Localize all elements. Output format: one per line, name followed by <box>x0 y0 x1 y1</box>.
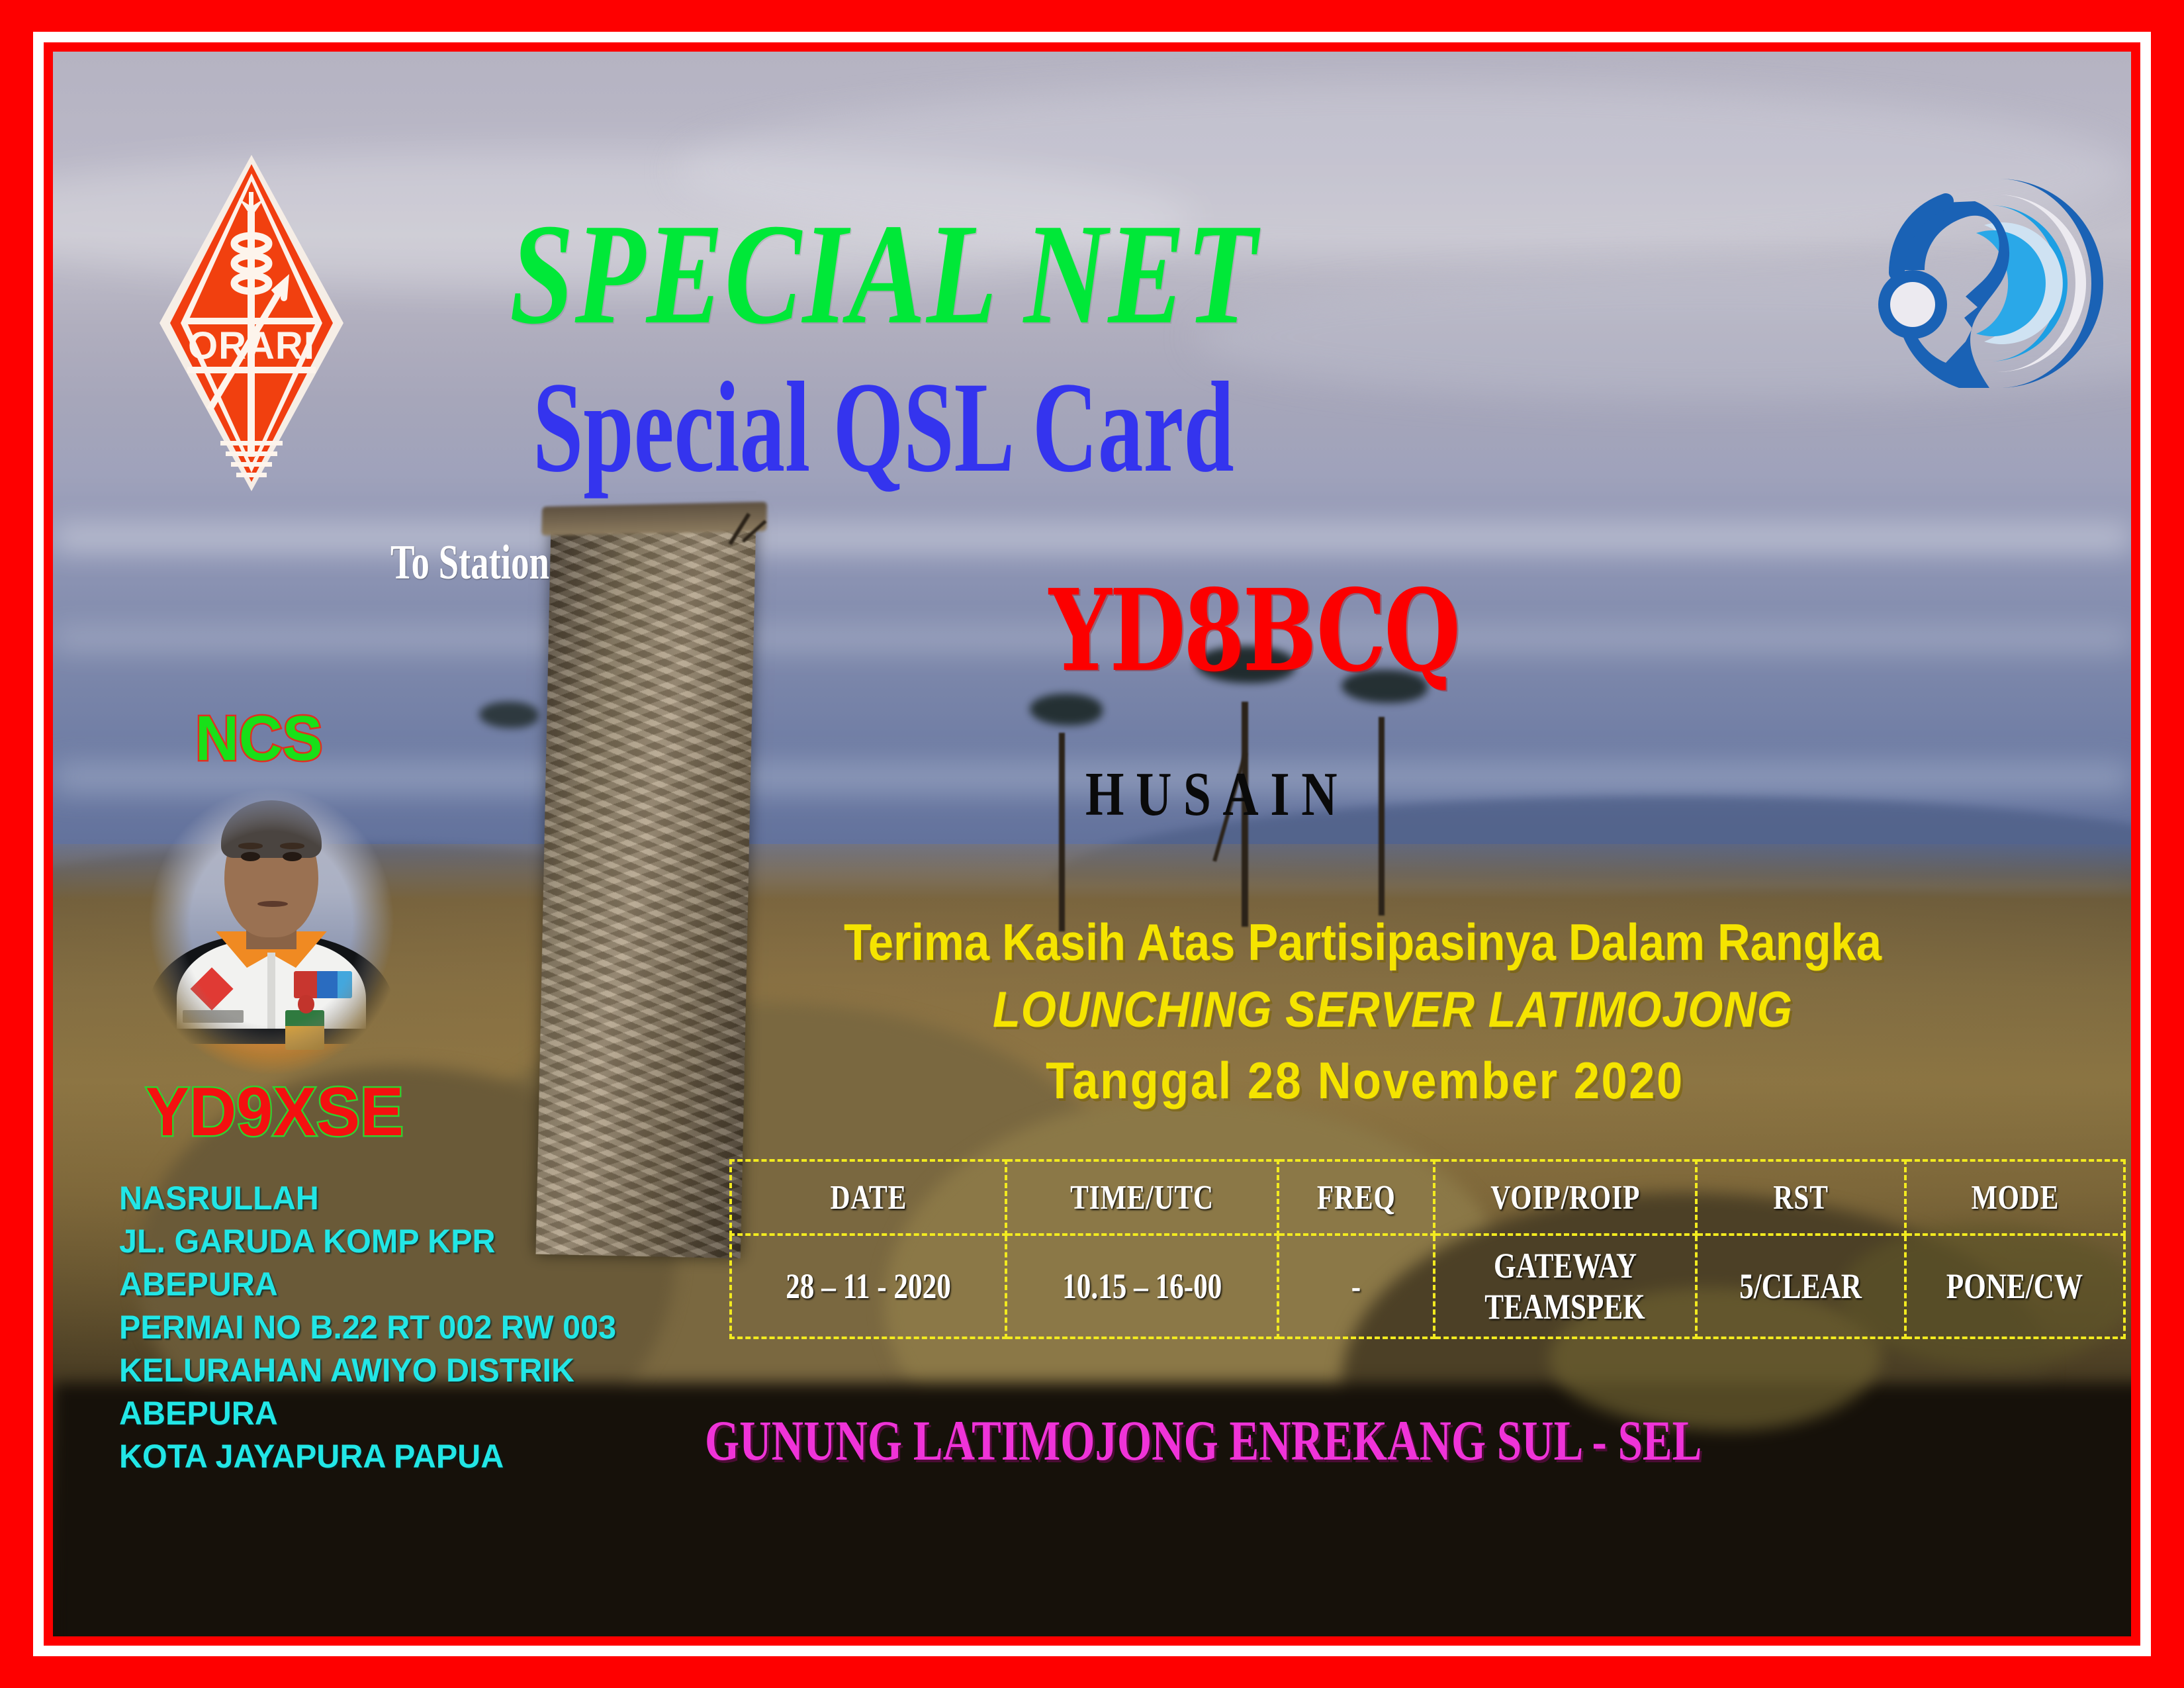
address-line: KELURAHAN AWIYO DISTRIK <box>119 1349 671 1392</box>
footer-address: Address : amatir.latimojong.com <box>1330 1630 1953 1636</box>
tree-canopy <box>1030 694 1103 726</box>
th-voip-roip: VOIP/ROIP <box>1434 1160 1696 1235</box>
address-line: JL. GARUDA KOMP KPR <box>119 1220 671 1263</box>
operator-name: HUSAIN <box>1085 763 1349 825</box>
th-freq: FREQ <box>1278 1160 1434 1235</box>
td-rst: 5/CLEAR <box>1696 1235 1905 1338</box>
sender-address-block: NASRULLAH JL. GARUDA KOMP KPR ABEPURA PE… <box>119 1177 688 1478</box>
th-mode: MODE <box>1905 1160 2124 1235</box>
ncs-callsign: YD9XSE <box>146 1078 404 1147</box>
qsl-card: ORARI <box>0 0 2184 1688</box>
address-line: PERMAI NO B.22 RT 002 RW 003 <box>119 1306 671 1349</box>
callsign-embroidery <box>183 1010 244 1022</box>
th-date: DATE <box>731 1160 1006 1235</box>
ncs-label: NCS <box>195 707 323 771</box>
eyebrow-left <box>238 843 263 849</box>
page-title: SPECIAL NET <box>510 203 1257 347</box>
shirt-logo-patch <box>294 971 352 998</box>
table-header-row: DATE TIME/UTC FREQ VOIP/ROIP RST MODE <box>731 1160 2124 1235</box>
td-freq: - <box>1278 1235 1434 1338</box>
event-date-line: Tanggal 28 November 2020 <box>1046 1055 1684 1106</box>
qso-log-table: DATE TIME/UTC FREQ VOIP/ROIP RST MODE 28… <box>729 1159 2126 1339</box>
eye-right <box>283 852 302 861</box>
table-row: 28 – 11 - 2020 10.15 – 16-00 - GATEWAY T… <box>731 1235 2124 1338</box>
td-mode: PONE/CW <box>1905 1235 2124 1338</box>
address-line: ABEPURA <box>119 1263 671 1306</box>
page-subtitle: Special QSL Card <box>533 363 1234 492</box>
eyebrow-right <box>280 843 305 849</box>
to-station-label: To Station <box>390 538 549 587</box>
shirt-placket <box>267 953 276 1038</box>
svg-text:ORARI: ORARI <box>188 324 315 367</box>
th-rst: RST <box>1696 1160 1905 1235</box>
thanks-line: Terima Kasih Atas Partisipasinya Dalam R… <box>844 916 1882 968</box>
hair <box>221 800 321 858</box>
ncs-operator-photo <box>132 770 410 1074</box>
address-line: NASRULLAH <box>119 1177 671 1220</box>
address-line: KOTA JAYAPURA PAPUA <box>119 1435 671 1478</box>
eye-left <box>241 852 260 861</box>
id-card-badge <box>285 1010 324 1050</box>
card-photo-area: ORARI <box>53 52 2131 1636</box>
td-time: 10.15 – 16-00 <box>1006 1235 1278 1338</box>
tree-canopy <box>479 702 539 728</box>
tree-trunk <box>1379 717 1385 915</box>
station-callsign: YD8BCQ <box>1049 575 1459 687</box>
td-voip-roip: GATEWAY TEAMSPEK <box>1434 1235 1696 1338</box>
badge-reel <box>298 995 314 1013</box>
td-date: 28 – 11 - 2020 <box>731 1235 1006 1338</box>
photo-figure <box>132 770 410 1074</box>
headset-soundwave-logo <box>1866 164 2105 402</box>
event-line: LOUNCHING SERVER LATIMOJONG <box>993 985 1793 1035</box>
mouth <box>257 901 288 907</box>
address-line: ABEPURA <box>119 1392 671 1435</box>
stone-pillar-monument <box>536 512 756 1258</box>
tree-trunk <box>1059 733 1065 931</box>
th-time: TIME/UTC <box>1006 1160 1278 1235</box>
footer-motto: "AMATIR RADIO ADALAH PROGRESIVE" <box>132 1634 940 1636</box>
orari-logo: ORARI <box>156 151 347 495</box>
horizon-haze <box>53 527 2131 549</box>
location-line: GUNUNG LATIMOJONG ENREKANG SUL - SEL <box>705 1412 1702 1469</box>
